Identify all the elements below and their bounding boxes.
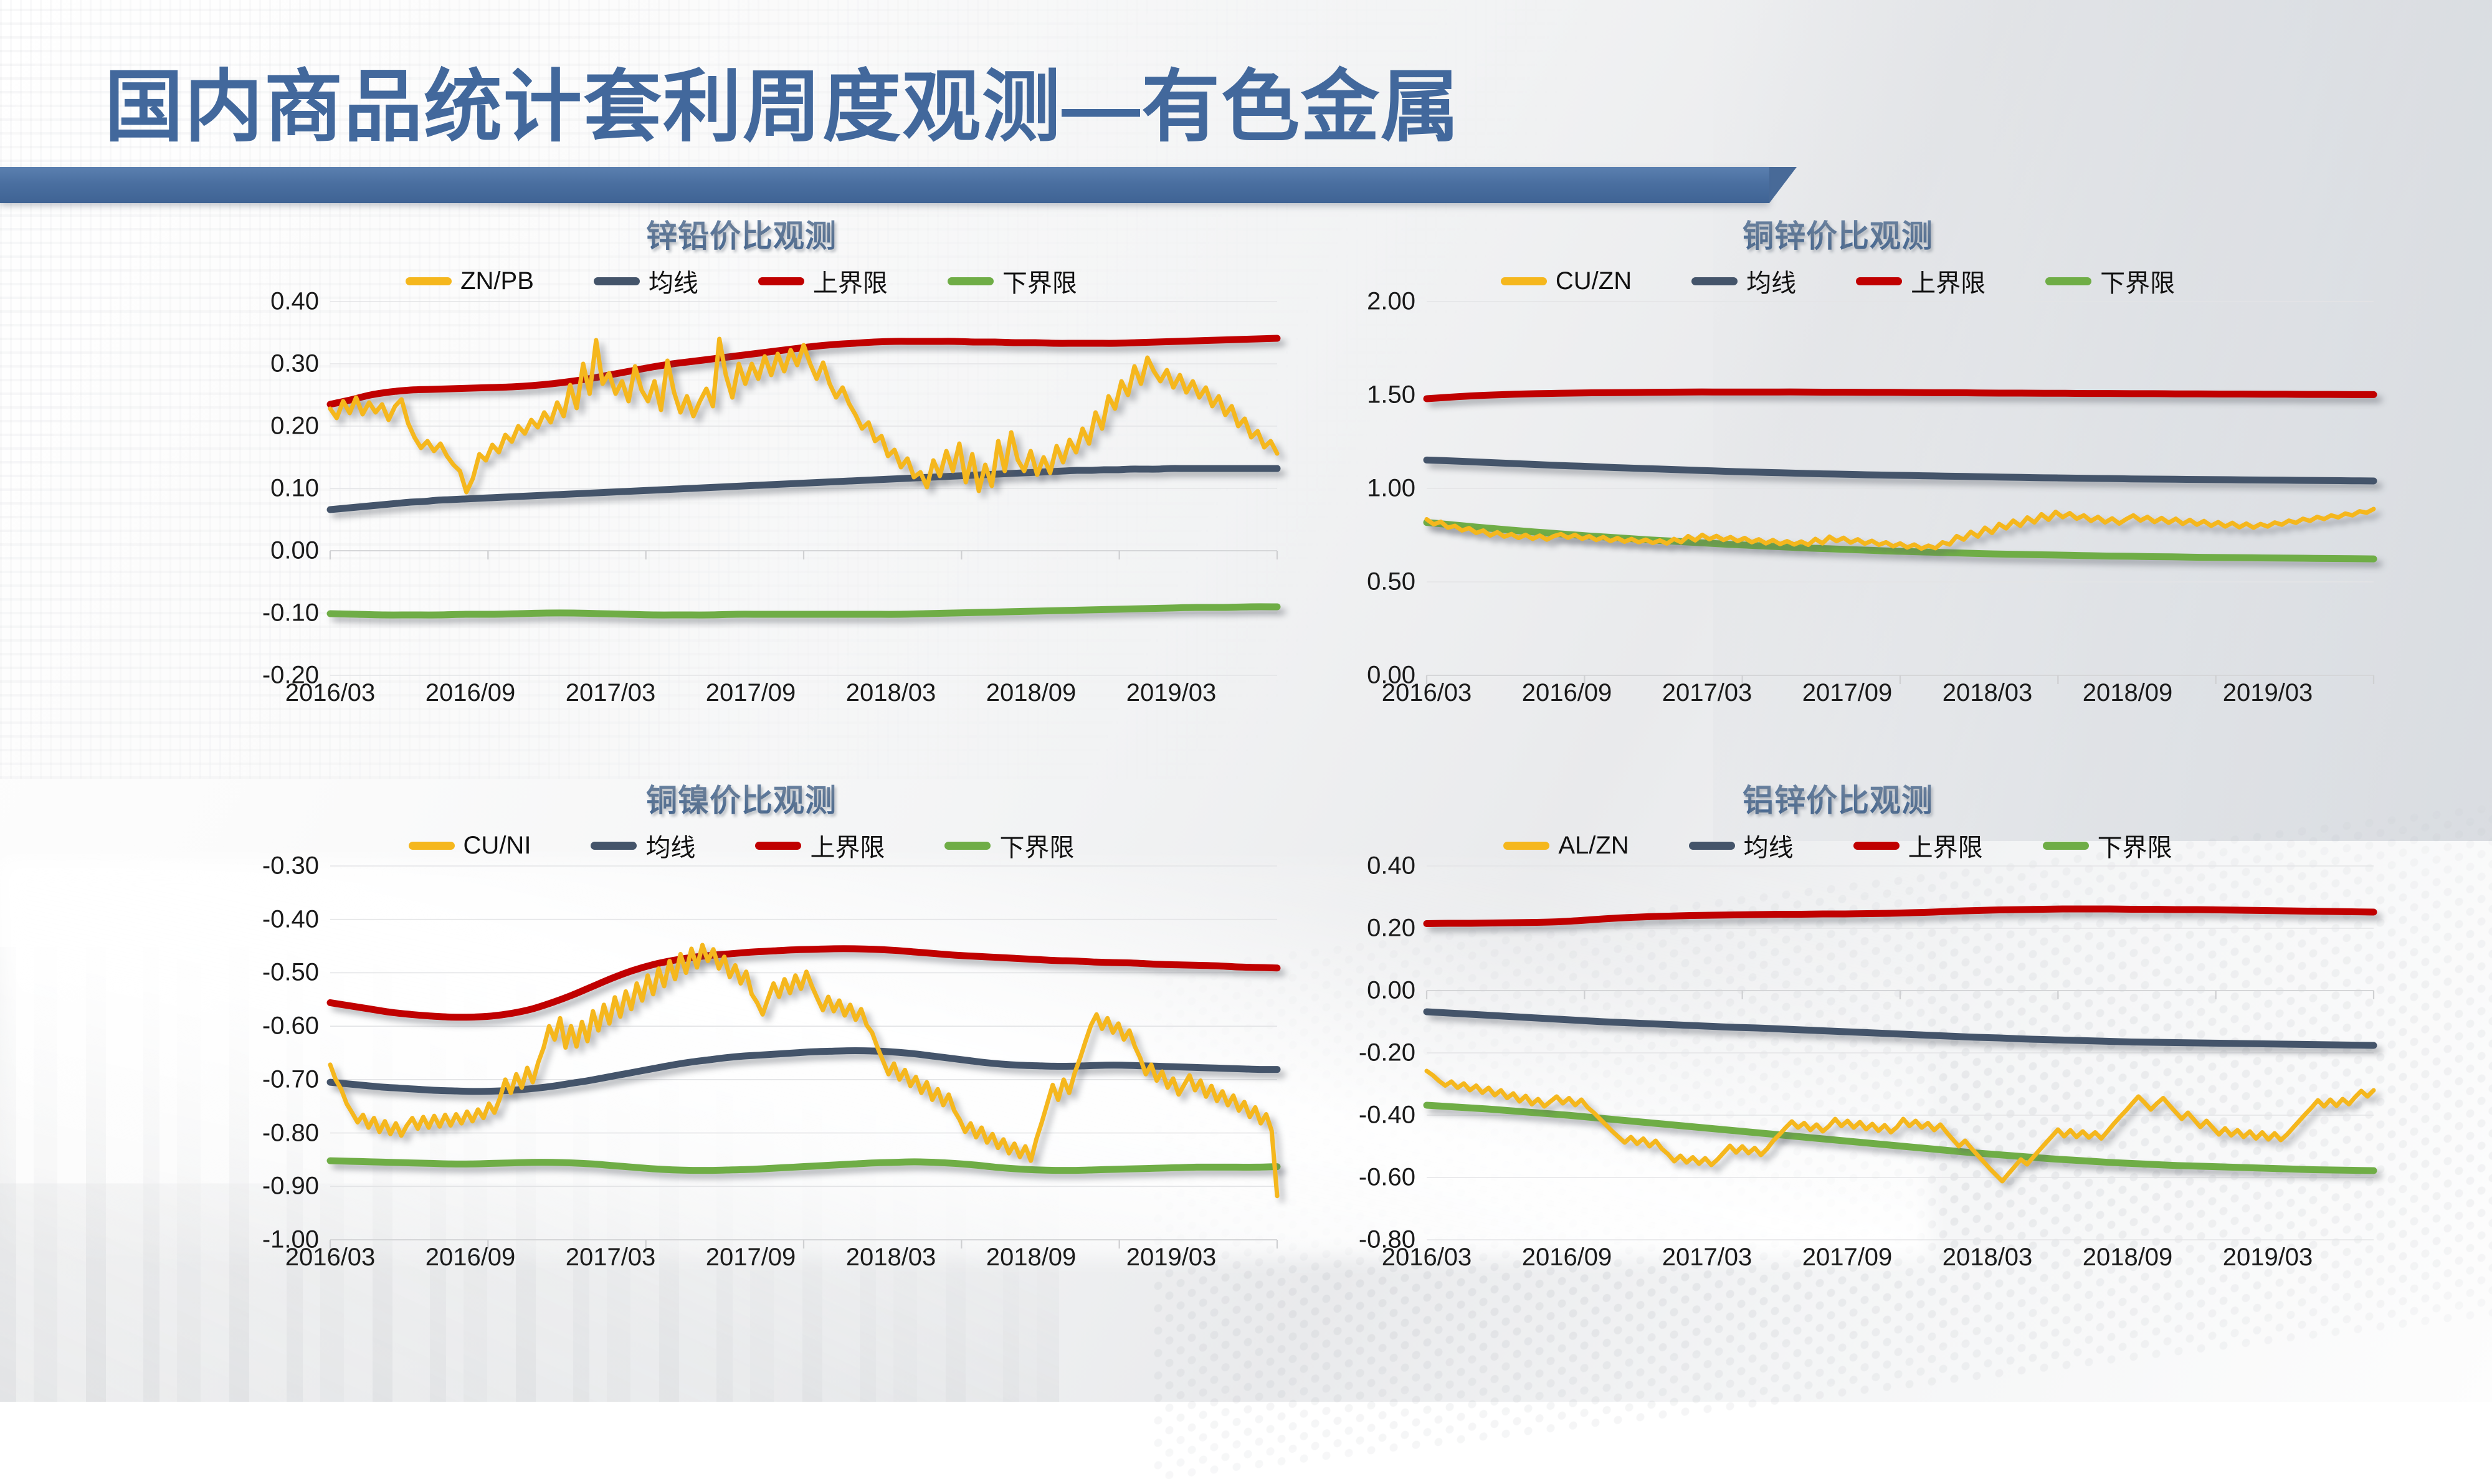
- legend-item-上界限[interactable]: 上界限: [1856, 263, 1986, 299]
- x-tick-label: 2018/03: [1943, 679, 2033, 707]
- x-tick-label: 2016/09: [426, 1244, 516, 1272]
- x-tick-label: 2017/09: [706, 1244, 796, 1272]
- legend-label: 上界限: [813, 263, 888, 299]
- x-axis: 2016/032016/092017/032017/092018/032018/…: [1396, 675, 2374, 725]
- x-tick-label: 2018/09: [2083, 679, 2173, 707]
- legend-swatch-icon: [1691, 277, 1738, 285]
- x-axis: 2016/032016/092017/032017/092018/032018/…: [299, 1240, 1277, 1290]
- legend-label: 下界限: [2098, 827, 2172, 863]
- chart-title: 铝锌价比观测: [1302, 780, 2374, 825]
- plot-svg: [330, 302, 1277, 675]
- legend-item-均线[interactable]: 均线: [591, 827, 695, 863]
- chart-title: 铜镍价比观测: [206, 780, 1277, 825]
- title-banner: 国内商品统计套利周度观测—有色金属: [0, 62, 2492, 206]
- x-tick-label: 2016/03: [1382, 1244, 1472, 1272]
- legend-swatch-icon: [591, 842, 637, 850]
- legend-label: AL/ZN: [1558, 832, 1629, 860]
- y-tick-label: -0.70: [262, 1065, 319, 1093]
- plot-area: [1427, 866, 2374, 1240]
- legend-label: 均线: [645, 827, 695, 863]
- legend-swatch-icon: [409, 842, 455, 850]
- y-tick-label: 1.00: [1367, 475, 1415, 503]
- y-tick-label: -0.20: [1359, 1039, 1415, 1067]
- legend-item-上界限[interactable]: 上界限: [755, 827, 885, 863]
- series-line-均线: [330, 1050, 1277, 1091]
- x-tick-label: 2016/03: [285, 1244, 376, 1272]
- x-tick-label: 2018/03: [846, 679, 936, 707]
- x-tick-label: 2019/03: [2223, 679, 2313, 707]
- legend-swatch-icon: [758, 277, 804, 285]
- chart-legend: CU/NI均线上界限下界限: [206, 825, 1277, 866]
- series-line-均线: [1427, 1012, 2374, 1045]
- x-tick-label: 2018/09: [986, 679, 1077, 707]
- y-tick-label: -0.10: [262, 599, 319, 627]
- legend-label: 上界限: [810, 827, 885, 863]
- legend-item-均线[interactable]: 均线: [1689, 827, 1794, 863]
- series-line-上界限: [1427, 392, 2374, 399]
- plot-row: -0.30-0.40-0.50-0.60-0.70-0.80-0.90-1.00: [206, 866, 1277, 1240]
- x-tick-label: 2017/03: [1662, 1244, 1752, 1272]
- plot-svg: [1427, 302, 2374, 675]
- x-tick-label: 2018/03: [1943, 1244, 2033, 1272]
- y-tick-label: -0.90: [262, 1172, 319, 1201]
- y-axis: 0.400.200.00-0.20-0.40-0.60-0.80: [1302, 866, 1427, 1240]
- legend-item-zn-pb[interactable]: ZN/PB: [406, 267, 534, 295]
- y-axis: 2.001.501.000.500.00: [1302, 302, 1427, 675]
- title-accent-bar: [0, 167, 1769, 203]
- legend-label: 均线: [649, 263, 698, 299]
- y-tick-label: -0.60: [1359, 1164, 1415, 1192]
- chart-title: 锌铅价比观测: [206, 216, 1277, 260]
- series-line-均线: [1427, 460, 2374, 481]
- legend-label: CU/ZN: [1556, 267, 1632, 295]
- y-tick-label: 0.50: [1367, 568, 1415, 596]
- y-tick-label: 0.40: [270, 288, 319, 316]
- legend-swatch-icon: [1689, 842, 1735, 850]
- y-tick-label: 0.30: [270, 350, 319, 378]
- plot-area: [330, 302, 1277, 675]
- plot-row: 0.400.200.00-0.20-0.40-0.60-0.80: [1302, 866, 2374, 1240]
- x-tick-label: 2019/03: [1126, 679, 1217, 707]
- x-tick-label: 2017/09: [1802, 1244, 1893, 1272]
- chart-al-zn: 铝锌价比观测AL/ZN均线上界限下界限0.400.200.00-0.20-0.4…: [1302, 779, 2374, 1377]
- plot-row: 2.001.501.000.500.00: [1302, 302, 2374, 675]
- x-tick-label: 2016/09: [1522, 1244, 1612, 1272]
- y-tick-label: -0.50: [262, 959, 319, 987]
- series-line-下界限: [330, 607, 1277, 615]
- chart-cu-zn: 铜锌价比观测CU/ZN均线上界限下界限2.001.501.000.500.002…: [1302, 212, 2374, 776]
- y-tick-label: -0.40: [262, 905, 319, 933]
- legend-label: ZN/PB: [460, 267, 534, 295]
- legend-label: 上界限: [1908, 827, 1983, 863]
- series-line-下界限: [330, 1161, 1277, 1171]
- chart-zn-pb: 锌铅价比观测ZN/PB均线上界限下界限0.400.300.200.100.00-…: [206, 212, 1277, 776]
- x-tick-label: 2016/09: [1522, 679, 1612, 707]
- page-title: 国内商品统计套利周度观测—有色金属: [105, 62, 1460, 153]
- legend-swatch-icon: [948, 277, 994, 285]
- legend-swatch-icon: [1853, 842, 1900, 850]
- legend-swatch-icon: [755, 842, 801, 850]
- legend-item-均线[interactable]: 均线: [1691, 263, 1796, 299]
- x-tick-label: 2019/03: [2223, 1244, 2313, 1272]
- chart-cu-ni: 铜镍价比观测CU/NI均线上界限下界限-0.30-0.40-0.50-0.60-…: [206, 779, 1277, 1377]
- x-tick-label: 2017/03: [566, 679, 656, 707]
- legend-swatch-icon: [944, 842, 991, 850]
- legend-label: 均线: [1746, 263, 1796, 299]
- x-tick-label: 2017/03: [566, 1244, 656, 1272]
- x-axis: 2016/032016/092017/032017/092018/032018/…: [299, 675, 1277, 725]
- chart-legend: AL/ZN均线上界限下界限: [1302, 825, 2374, 866]
- legend-swatch-icon: [1503, 842, 1549, 850]
- legend-swatch-icon: [2045, 277, 2091, 285]
- x-tick-label: 2016/03: [285, 679, 376, 707]
- legend-item-下界限[interactable]: 下界限: [948, 263, 1077, 299]
- series-line-cu-zn: [1427, 509, 2374, 549]
- legend-label: 下界限: [2100, 263, 2175, 299]
- y-tick-label: 1.50: [1367, 381, 1415, 409]
- plot-area: [1427, 302, 2374, 675]
- plot-svg: [1427, 866, 2374, 1240]
- legend-item-上界限[interactable]: 上界限: [1853, 827, 1983, 863]
- chart-legend: ZN/PB均线上界限下界限: [206, 260, 1277, 302]
- x-tick-label: 2018/09: [986, 1244, 1077, 1272]
- series-line-cu-ni: [330, 945, 1277, 1196]
- plot-area: [330, 866, 1277, 1240]
- chart-title: 铜锌价比观测: [1302, 216, 2374, 260]
- legend-item-下界限[interactable]: 下界限: [2043, 827, 2172, 863]
- legend-item-下界限[interactable]: 下界限: [944, 827, 1074, 863]
- y-tick-label: 0.20: [1367, 915, 1415, 943]
- chart-legend: CU/ZN均线上界限下界限: [1302, 260, 2374, 302]
- x-tick-label: 2016/03: [1382, 679, 1472, 707]
- charts-grid: 锌铅价比观测ZN/PB均线上界限下界限0.400.300.200.100.00-…: [0, 212, 2492, 1402]
- y-tick-label: -0.60: [262, 1012, 319, 1040]
- x-tick-label: 2018/09: [2083, 1244, 2173, 1272]
- series-line-下界限: [1427, 523, 2374, 559]
- legend-item-上界限[interactable]: 上界限: [758, 263, 888, 299]
- legend-swatch-icon: [1501, 277, 1547, 285]
- legend-label: 下界限: [1002, 263, 1077, 299]
- legend-label: 下界限: [999, 827, 1074, 863]
- legend-label: 上界限: [1911, 263, 1986, 299]
- plot-row: 0.400.300.200.100.00-0.10-0.20: [206, 302, 1277, 675]
- x-tick-label: 2018/03: [846, 1244, 936, 1272]
- legend-item-cu-ni[interactable]: CU/NI: [409, 832, 531, 860]
- legend-swatch-icon: [594, 277, 640, 285]
- legend-item-下界限[interactable]: 下界限: [2045, 263, 2175, 299]
- y-tick-label: 0.10: [270, 475, 319, 503]
- legend-swatch-icon: [1856, 277, 1902, 285]
- legend-swatch-icon: [406, 277, 452, 285]
- y-axis: 0.400.300.200.100.00-0.10-0.20: [206, 302, 330, 675]
- legend-item-al-zn[interactable]: AL/ZN: [1503, 832, 1629, 860]
- y-tick-label: 0.00: [270, 537, 319, 565]
- legend-swatch-icon: [2043, 842, 2089, 850]
- series-line-上界限: [1427, 909, 2374, 924]
- x-axis: 2016/032016/092017/032017/092018/032018/…: [1396, 1240, 2374, 1290]
- y-tick-label: 0.40: [1367, 852, 1415, 880]
- y-tick-label: -0.40: [1359, 1101, 1415, 1130]
- y-axis: -0.30-0.40-0.50-0.60-0.70-0.80-0.90-1.00: [206, 866, 330, 1240]
- legend-item-均线[interactable]: 均线: [594, 263, 698, 299]
- legend-label: CU/NI: [464, 832, 531, 860]
- y-tick-label: 0.00: [1367, 977, 1415, 1005]
- y-tick-label: -0.80: [262, 1119, 319, 1147]
- x-tick-label: 2019/03: [1126, 1244, 1217, 1272]
- y-tick-label: 0.20: [270, 412, 319, 440]
- x-tick-label: 2016/09: [426, 679, 516, 707]
- legend-label: 均线: [1744, 827, 1794, 863]
- x-tick-label: 2017/03: [1662, 679, 1752, 707]
- plot-svg: [330, 866, 1277, 1240]
- y-tick-label: -0.30: [262, 852, 319, 880]
- x-tick-label: 2017/09: [1802, 679, 1893, 707]
- x-tick-label: 2017/09: [706, 679, 796, 707]
- legend-item-cu-zn[interactable]: CU/ZN: [1501, 267, 1632, 295]
- y-tick-label: 2.00: [1367, 288, 1415, 316]
